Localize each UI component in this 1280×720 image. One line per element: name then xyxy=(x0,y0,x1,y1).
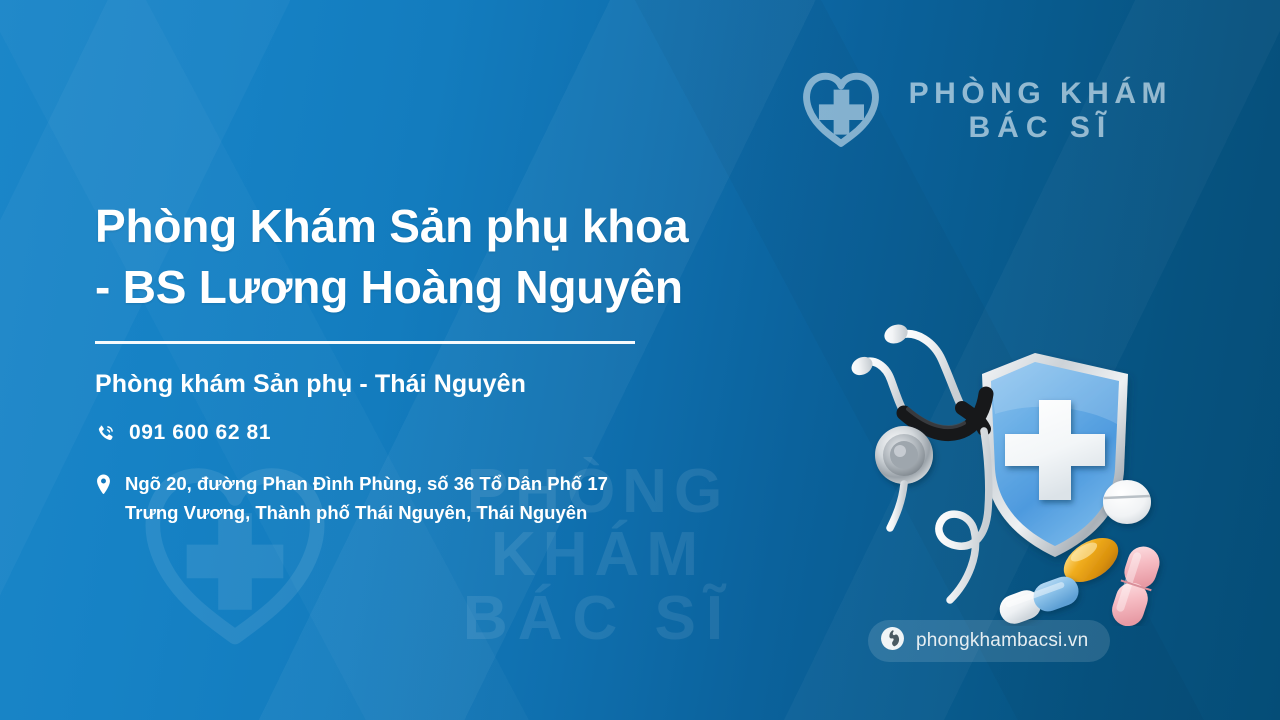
brand-logo-line-1: PHÒNG KHÁM xyxy=(909,77,1172,111)
stethoscope-shield-pills-illustration xyxy=(838,296,1188,626)
title-divider xyxy=(95,341,635,344)
page-title: Phòng Khám Sản phụ khoa - BS Lương Hoàng… xyxy=(95,196,835,317)
clinic-subtitle: Phòng khám Sản phụ - Thái Nguyên xyxy=(95,370,835,399)
page-title-line-1: Phòng Khám Sản phụ khoa xyxy=(95,196,835,257)
chestpiece xyxy=(875,426,933,484)
clinic-banner: PHÒNG KHÁM BÁC SĨ PHÒNG KHÁM BÁC SĨ Phòn… xyxy=(0,0,1280,720)
stethoscope xyxy=(848,321,988,600)
clinic-info-block: Phòng Khám Sản phụ khoa - BS Lương Hoàng… xyxy=(95,196,835,527)
phone-number: 091 600 62 81 xyxy=(129,421,271,445)
brand-logo: PHÒNG KHÁM BÁC SĨ xyxy=(795,62,1172,159)
page-title-line-2: - BS Lương Hoàng Nguyên xyxy=(95,257,835,318)
website-url: phongkhambacsi.vn xyxy=(916,630,1088,652)
watermark-line-2: BÁC SĨ xyxy=(366,587,830,650)
address-line-2: Trưng Vương, Thành phố Thái Nguyên, Thái… xyxy=(125,499,608,527)
address-row[interactable]: Ngõ 20, đường Phan Đình Phùng, số 36 Tổ … xyxy=(95,470,835,526)
medical-cross-heart-icon xyxy=(795,62,887,159)
address-line-1: Ngõ 20, đường Phan Đình Phùng, số 36 Tổ … xyxy=(125,470,608,498)
address-text: Ngõ 20, đường Phan Đình Phùng, số 36 Tổ … xyxy=(125,470,608,526)
medical-shield xyxy=(982,353,1128,557)
phone-row[interactable]: 091 600 62 81 xyxy=(95,421,835,449)
globe-icon xyxy=(880,626,905,656)
round-tablet xyxy=(1103,480,1151,524)
map-pin-icon xyxy=(95,474,112,500)
brand-logo-text: PHÒNG KHÁM BÁC SĨ xyxy=(909,77,1172,144)
phone-call-icon xyxy=(95,423,116,449)
blue-capsule xyxy=(996,572,1083,626)
website-badge[interactable]: phongkhambacsi.vn xyxy=(868,620,1110,662)
brand-logo-line-2: BÁC SĨ xyxy=(909,111,1172,145)
